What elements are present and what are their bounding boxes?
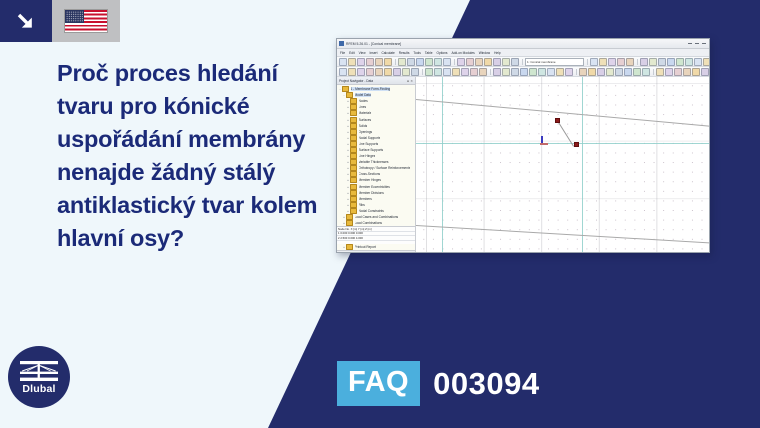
folder-icon <box>342 86 349 92</box>
application-screenshot[interactable]: RFEM 5.26.01 - [Conical membrane] FileEd… <box>336 38 710 253</box>
navigator-tab-data[interactable]: ▪ Data <box>339 253 347 254</box>
toolbar-button[interactable] <box>529 68 537 76</box>
toolbar-button[interactable] <box>384 58 392 66</box>
toolbar-button[interactable] <box>685 58 693 66</box>
close-icon[interactable] <box>702 43 706 44</box>
folder-icon <box>350 117 357 123</box>
toolbar-button[interactable] <box>642 68 650 76</box>
toolbar-separator <box>653 69 654 75</box>
toolbar-button[interactable] <box>452 68 460 76</box>
navigator-item-label: 1 - Membrane Form-Finding <box>351 87 391 91</box>
folder-icon <box>350 196 357 202</box>
menu-item-help[interactable]: Help <box>494 51 501 55</box>
toolbar-button[interactable] <box>676 58 684 66</box>
toolbar-button[interactable] <box>520 68 528 76</box>
faq-number: 003094 <box>433 366 539 402</box>
dlubal-logo: Dlubal <box>8 346 70 408</box>
toolbar-button[interactable] <box>615 68 623 76</box>
toolbar-button[interactable] <box>608 58 616 66</box>
folder-icon <box>350 141 357 147</box>
navigator-item-label: Orthotropy / Surface Reinforcements <box>359 166 411 170</box>
folder-icon <box>350 123 357 129</box>
axis-line-vertical-2 <box>582 77 583 253</box>
menu-item-add-on-modules[interactable]: Add-on Modules <box>452 51 475 55</box>
folder-icon <box>350 177 357 183</box>
menu-item-file[interactable]: File <box>340 51 345 55</box>
menu-item-window[interactable]: Window <box>479 51 490 55</box>
table-cell-text: 1 0.000 0.000 0.000 <box>338 231 363 235</box>
load-case-combo[interactable]: 1: Conical membrane <box>525 58 584 66</box>
faq-row: FAQ 003094 <box>337 361 540 406</box>
menu-item-view[interactable]: View <box>359 51 366 55</box>
toolbar-button[interactable] <box>484 58 492 66</box>
toolbar-button[interactable] <box>692 68 700 76</box>
navigator-item-label: Materials <box>359 111 372 115</box>
navigator-item-label: Member Eccentricities <box>359 185 390 189</box>
navigator-item-label: Ribs <box>359 203 365 207</box>
menu-item-edit[interactable]: Edit <box>349 51 355 55</box>
toolbar-button[interactable] <box>407 58 415 66</box>
folder-icon <box>350 184 357 190</box>
toolbar-button[interactable] <box>597 68 605 76</box>
toolbar-separator <box>395 59 396 65</box>
toolbar-button[interactable] <box>606 68 614 76</box>
toolbar-button[interactable] <box>339 58 347 66</box>
navigator-item-label: Variable Thicknesses <box>359 160 389 164</box>
folder-icon <box>350 159 357 165</box>
rfem-app-icon <box>339 41 344 46</box>
minimize-icon[interactable] <box>688 43 692 44</box>
support-symbol <box>540 136 548 146</box>
toolbar-separator <box>637 59 638 65</box>
toolbar-button[interactable] <box>683 68 691 76</box>
model-work-area[interactable] <box>416 77 709 253</box>
app-menubar[interactable]: FileEditViewInsertCalculateResultsToolsT… <box>337 49 709 57</box>
toolbar-button[interactable] <box>667 58 675 66</box>
navigator-tab-views[interactable]: ▪ Views <box>365 253 375 254</box>
navigator-item-label: Openings <box>359 130 373 134</box>
folder-icon <box>350 98 357 104</box>
node-point-top[interactable] <box>555 118 560 123</box>
navigator-item-label: Members <box>359 197 372 201</box>
node-point-bottom[interactable] <box>574 142 579 147</box>
toolbar-button[interactable] <box>475 58 483 66</box>
toolbar-button[interactable] <box>457 58 465 66</box>
folder-icon <box>350 104 357 110</box>
us-flag-graphic <box>64 9 108 33</box>
toolbar-button[interactable] <box>556 68 564 76</box>
navigator-item-label: Member Divisions <box>359 191 384 195</box>
folder-icon <box>350 202 357 208</box>
toolbar-button[interactable] <box>443 58 451 66</box>
toolbar-button[interactable] <box>656 68 664 76</box>
faq-badge: FAQ <box>337 361 420 406</box>
folder-icon <box>350 171 357 177</box>
toolbar-button[interactable] <box>366 68 374 76</box>
toolbar-button[interactable] <box>416 58 424 66</box>
toolbar-separator <box>587 59 588 65</box>
folder-icon <box>350 147 357 153</box>
toolbar-button[interactable] <box>434 68 442 76</box>
navigator-item-label: Nodal Supports <box>359 136 381 140</box>
navigator-tab-display[interactable]: ▪ Display <box>350 253 362 254</box>
folder-icon <box>350 110 357 116</box>
toolbar-button[interactable] <box>640 58 648 66</box>
toolbar-button[interactable] <box>590 58 598 66</box>
navigator-item-label: Line Hinges <box>359 154 376 158</box>
app-titlebar: RFEM 5.26.01 - [Conical membrane] <box>337 39 709 49</box>
menu-item-insert[interactable]: Insert <box>370 51 378 55</box>
toolbar-button[interactable] <box>633 68 641 76</box>
data-table-strip[interactable]: Node No. X [m] Y [m] Z [m]1 0.000 0.000 … <box>337 226 416 244</box>
toolbar-button[interactable] <box>348 68 356 76</box>
toolbar-button[interactable] <box>565 68 573 76</box>
folder-icon <box>350 208 357 214</box>
table-cell-text: 2 2.500 0.000 4.000 <box>338 236 363 240</box>
navigator-item-label: Cross-Sections <box>359 172 381 176</box>
toolbar-button[interactable] <box>375 68 383 76</box>
toolbar-button[interactable] <box>411 68 419 76</box>
toolbar-button[interactable] <box>375 58 383 66</box>
toolbar-button[interactable] <box>398 58 406 66</box>
toolbar-separator <box>490 69 491 75</box>
menu-item-table[interactable]: Table <box>425 51 433 55</box>
toolbar-button[interactable] <box>493 68 501 76</box>
navigator-item-label: Nodal Constraints <box>359 209 384 213</box>
toolbar-button[interactable] <box>665 68 673 76</box>
window-buttons[interactable] <box>688 43 707 44</box>
dlubal-frame-icon <box>19 360 59 382</box>
toolbar-button[interactable] <box>461 68 469 76</box>
navigator-item-label: Load Combinations <box>355 221 382 225</box>
toolbar-button[interactable] <box>425 68 433 76</box>
toolbar-button[interactable] <box>425 58 433 66</box>
toolbar-separator <box>522 59 523 65</box>
toolbar-button[interactable] <box>511 68 519 76</box>
navigator-item-label: Member Hinges <box>359 178 382 182</box>
toolbar-button[interactable] <box>694 58 702 66</box>
us-flag-icon <box>52 0 120 42</box>
toolbar-button[interactable] <box>470 68 478 76</box>
toolbar-button[interactable] <box>579 68 587 76</box>
folder-icon <box>346 92 353 98</box>
slide-canvas: Proč proces hledání tvaru pro kónické us… <box>0 0 760 428</box>
menu-item-calculate[interactable]: Calculate <box>381 51 394 55</box>
folder-icon <box>350 165 357 171</box>
dlubal-logo-text: Dlubal <box>22 383 55 395</box>
folder-icon <box>350 135 357 141</box>
toolbar-button[interactable] <box>547 68 555 76</box>
toolbar-button[interactable] <box>703 58 710 66</box>
toolbar-button[interactable] <box>384 68 392 76</box>
page-title: Proč proces hledání tvaru pro kónické us… <box>57 57 319 255</box>
maximize-icon[interactable] <box>695 43 699 44</box>
toolbar-button[interactable] <box>502 58 510 66</box>
toolbar-button[interactable] <box>466 58 474 66</box>
menu-item-tools[interactable]: Tools <box>413 51 420 55</box>
navigator-item-label: Lines <box>359 105 367 109</box>
navigator-item-label: Line Supports <box>359 142 379 146</box>
toolbar-button[interactable] <box>511 58 519 66</box>
toolbar-button[interactable] <box>658 58 666 66</box>
app-title: RFEM 5.26.01 - [Conical membrane] <box>346 42 401 46</box>
folder-icon <box>350 190 357 196</box>
toolbar-button[interactable] <box>493 58 501 66</box>
navigator-item-label: Printout Report <box>355 245 376 249</box>
toolbar-button[interactable] <box>339 68 347 76</box>
folder-icon <box>346 214 353 220</box>
navigator-item-label: Solids <box>359 124 368 128</box>
toolbar-button[interactable] <box>674 68 682 76</box>
axis-line-horizontal <box>416 143 709 144</box>
folder-icon <box>350 129 357 135</box>
toolbar-button[interactable] <box>348 58 356 66</box>
toolbar-button[interactable] <box>443 68 451 76</box>
navigator-title: Project Navigator - Data <box>339 79 373 83</box>
navigator-item-label: Load Cases and Combinations <box>355 215 399 219</box>
toolbar-button[interactable] <box>402 68 410 76</box>
arrow-down-right-icon <box>0 0 52 42</box>
toolbar-separator <box>454 59 455 65</box>
toolbar-button[interactable] <box>626 58 634 66</box>
toolbar-button[interactable] <box>588 68 596 76</box>
navigator-item-label: Nodes <box>359 99 368 103</box>
pin-icon[interactable]: ⊟ ✕ <box>407 79 413 83</box>
folder-icon <box>350 153 357 159</box>
toolbar-button[interactable] <box>357 68 365 76</box>
toolbar-button[interactable] <box>366 58 374 66</box>
toolbar-separator <box>422 69 423 75</box>
toolbar-button[interactable] <box>479 68 487 76</box>
toolbar-button[interactable] <box>393 68 401 76</box>
toolbar-button[interactable] <box>599 58 607 66</box>
toolbar-separator <box>576 69 577 75</box>
navigator-header: Project Navigator - Data ⊟ ✕ <box>337 77 415 85</box>
navigator-item-label: Surfaces <box>359 118 372 122</box>
toolbar-button[interactable] <box>434 58 442 66</box>
navigator-item-label: Surface Supports <box>359 148 384 152</box>
toolbar-button[interactable] <box>617 58 625 66</box>
table-cell-text: Node No. X [m] Y [m] Z [m] <box>338 227 371 231</box>
toolbar-button[interactable] <box>538 68 546 76</box>
menu-item-options[interactable]: Options <box>437 51 448 55</box>
toolbar-button[interactable] <box>357 58 365 66</box>
toolbar-button[interactable] <box>649 58 657 66</box>
app-toolbar-row-1[interactable]: 1: Conical membrane <box>337 57 709 67</box>
navigator-item-label: Model Data <box>355 93 371 97</box>
table-row[interactable]: 2 2.500 0.000 4.000 <box>337 236 415 241</box>
navigator-tabs[interactable]: ▪ Data▪ Display▪ Views <box>337 250 415 253</box>
toolbar-button[interactable] <box>701 68 709 76</box>
toolbar-button[interactable] <box>502 68 510 76</box>
toolbar-button[interactable] <box>624 68 632 76</box>
app-toolbar-row-2[interactable] <box>337 67 709 77</box>
menu-item-results[interactable]: Results <box>399 51 410 55</box>
